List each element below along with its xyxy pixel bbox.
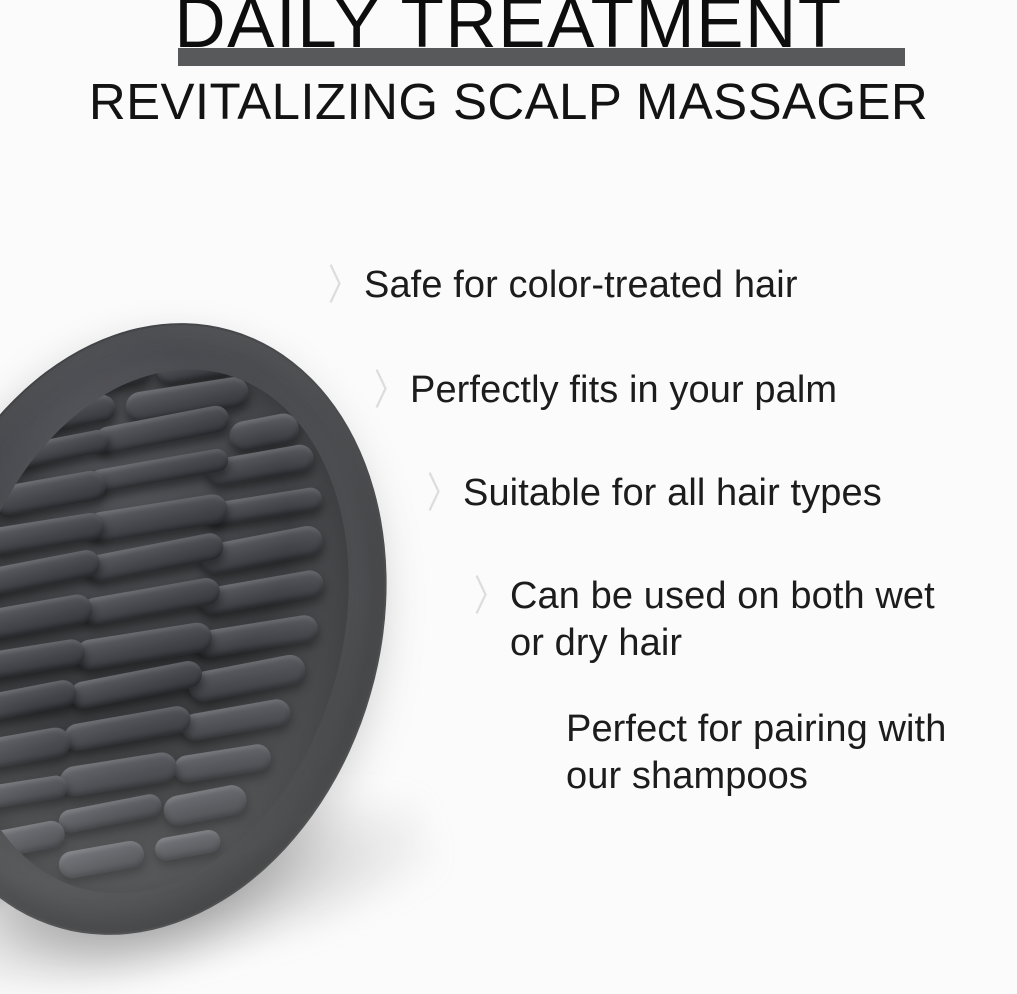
benefit-label-2: Perfectly fits in your palm (410, 367, 837, 414)
chevron-right-icon: 〉 (374, 359, 410, 424)
benefit-label-4: Can be used on both wet or dry hair (510, 573, 935, 667)
benefit-label-3: Suitable for all hair types (463, 470, 882, 517)
benefit-item-1: 〉 Safe for color-treated hair (328, 262, 798, 310)
infographic-page: DAILY TREATMENT REVITALIZING SCALP MASSA… (0, 0, 1017, 994)
chevron-right-icon: 〉 (328, 254, 364, 319)
benefit-item-2: 〉 Perfectly fits in your palm (374, 367, 837, 415)
benefit-item-5: 〉 Perfect for pairing with our shampoos (530, 706, 946, 800)
chevron-right-icon: 〉 (474, 565, 510, 630)
chevron-right-icon: 〉 (427, 462, 463, 527)
benefit-item-3: 〉 Suitable for all hair types (427, 470, 882, 518)
benefits-list: 〉 Safe for color-treated hair 〉 Perfectl… (0, 0, 1017, 994)
benefit-label-1: Safe for color-treated hair (364, 262, 798, 309)
benefit-item-4: 〉 Can be used on both wet or dry hair (474, 573, 935, 667)
benefit-label-5: Perfect for pairing with our shampoos (566, 706, 946, 800)
